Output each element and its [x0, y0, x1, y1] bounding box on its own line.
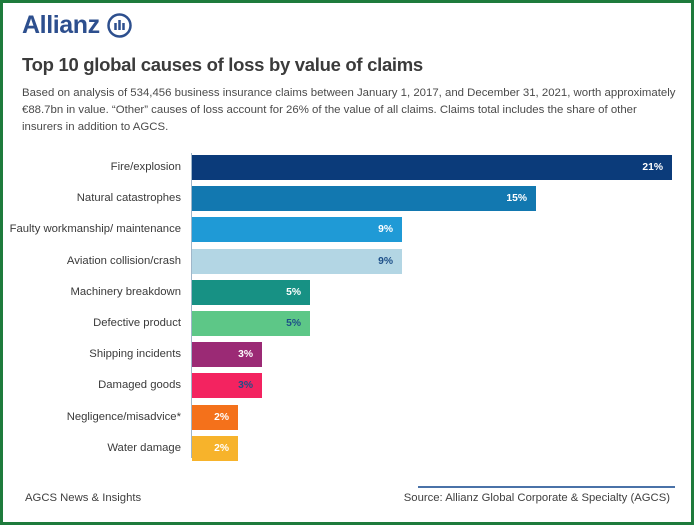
- bar-category-label: Defective product: [93, 311, 181, 336]
- bar-value-label: 2%: [214, 405, 229, 430]
- bar-segment: 2%: [192, 436, 238, 461]
- bar-value-label: 9%: [378, 249, 393, 274]
- bar-row: Faulty workmanship/ maintenance9%: [3, 217, 694, 242]
- allianz-logo: Allianz: [22, 13, 132, 38]
- bar-segment: 2%: [192, 405, 238, 430]
- bar-category-label: Machinery breakdown: [70, 280, 181, 305]
- footer-source: Source: Allianz Global Corporate & Speci…: [404, 492, 670, 504]
- bar-category-label: Fire/explosion: [111, 155, 181, 180]
- bar-row: Shipping incidents3%: [3, 342, 694, 367]
- bar-value-label: 3%: [238, 373, 253, 398]
- bar-category-label: Damaged goods: [98, 373, 181, 398]
- bar-row: Water damage2%: [3, 436, 694, 461]
- bar-row: Machinery breakdown5%: [3, 280, 694, 305]
- bar-segment: 3%: [192, 342, 262, 367]
- bar-segment: 5%: [192, 311, 310, 336]
- bar-segment: 5%: [192, 280, 310, 305]
- bar-category-label: Water damage: [107, 436, 181, 461]
- bar-chart: Fire/explosion21%Natural catastrophes15%…: [3, 151, 694, 461]
- bar-category-label: Aviation collision/crash: [67, 249, 181, 274]
- bar-segment: 15%: [192, 186, 536, 211]
- allianz-wordmark: Allianz: [22, 13, 100, 38]
- bar-fill: [192, 186, 536, 211]
- bar-segment: 21%: [192, 155, 672, 180]
- page-title: Top 10 global causes of loss by value of…: [22, 54, 423, 76]
- bar-row: Fire/explosion21%: [3, 155, 694, 180]
- bar-row: Natural catastrophes15%: [3, 186, 694, 211]
- chart-subtitle: Based on analysis of 534,456 business in…: [22, 85, 680, 137]
- bar-row: Aviation collision/crash9%: [3, 249, 694, 274]
- bar-value-label: 21%: [642, 155, 663, 180]
- allianz-circle-bars-icon: [107, 13, 132, 38]
- bar-fill: [192, 155, 672, 180]
- bar-segment: 3%: [192, 373, 262, 398]
- bar-fill: [192, 249, 402, 274]
- bar-category-label: Shipping incidents: [89, 342, 181, 367]
- bar-fill: [192, 217, 402, 242]
- bar-value-label: 15%: [506, 186, 527, 211]
- infographic-card: Allianz Top 10 global causes of loss by …: [0, 0, 694, 525]
- bar-category-label: Natural catastrophes: [77, 186, 181, 211]
- bar-row: Damaged goods3%: [3, 373, 694, 398]
- bar-category-label: Negligence/misadvice*: [67, 405, 181, 430]
- footer-divider: [418, 486, 675, 488]
- bar-segment: 9%: [192, 249, 402, 274]
- bar-segment: 9%: [192, 217, 402, 242]
- bar-value-label: 5%: [286, 280, 301, 305]
- footer-attribution: AGCS News & Insights: [25, 492, 141, 504]
- bar-category-label: Faulty workmanship/ maintenance: [10, 217, 181, 242]
- bar-value-label: 3%: [238, 342, 253, 367]
- bar-row: Defective product5%: [3, 311, 694, 336]
- bar-row: Negligence/misadvice*2%: [3, 405, 694, 430]
- bar-value-label: 5%: [286, 311, 301, 336]
- bar-value-label: 2%: [214, 436, 229, 461]
- bar-value-label: 9%: [378, 217, 393, 242]
